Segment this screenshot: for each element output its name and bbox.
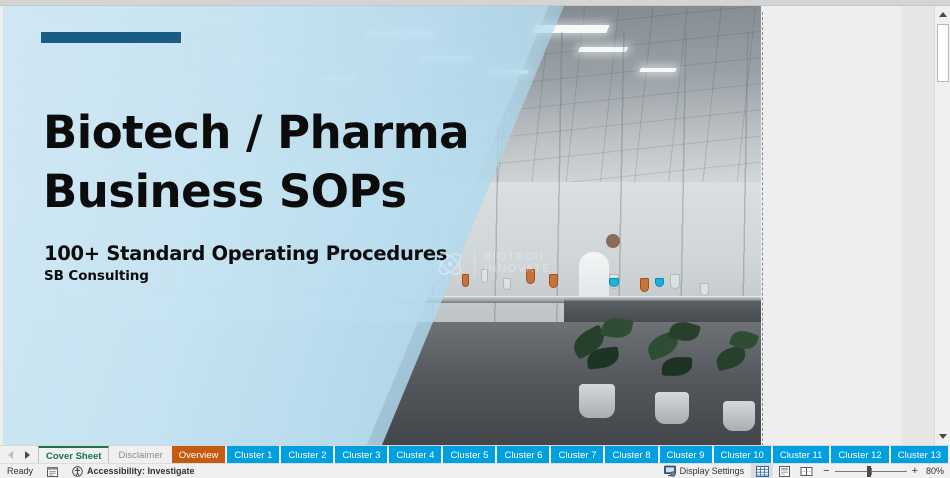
page-break-icon <box>800 465 813 478</box>
page-layout-icon <box>778 465 791 478</box>
accessibility-status[interactable]: Accessibility: Investigate <box>65 464 202 478</box>
sheet-tab-cluster-2[interactable]: Cluster 2 <box>281 446 333 464</box>
page-break-preview-button[interactable] <box>795 464 817 478</box>
worksheet-canvas[interactable]: Biotech / Pharma Business SOPs 100+ Stan… <box>0 6 902 445</box>
status-mode-label: Ready <box>7 466 33 476</box>
sheet-tab-cluster-5[interactable]: Cluster 5 <box>443 446 495 464</box>
scroll-up-button[interactable] <box>935 6 950 23</box>
zoom-level-label[interactable]: 80% <box>924 466 950 476</box>
zoom-slider-thumb[interactable] <box>867 466 871 477</box>
sheet-tab-cluster-1[interactable]: Cluster 1 <box>227 446 279 464</box>
zoom-slider-track[interactable] <box>835 471 907 472</box>
status-bar: Ready Accessibility: Investigate <box>0 463 950 478</box>
display-settings-button[interactable]: Display Settings <box>657 464 752 478</box>
sheet-tab-cluster-13[interactable]: Cluster 13 <box>891 446 948 464</box>
watermark-divider <box>474 251 475 277</box>
page-organization: SB Consulting <box>44 268 149 284</box>
chevron-right-icon <box>25 451 30 459</box>
accessibility-icon <box>72 466 83 477</box>
grid-icon <box>756 465 769 478</box>
title-accent-bar <box>41 32 181 43</box>
sheet-tab-cluster-10[interactable]: Cluster 10 <box>714 446 771 464</box>
watermark-logo: BIOTECH INNOVATE <box>435 249 551 279</box>
sheet-tab-cover-sheet[interactable]: Cover Sheet <box>38 446 109 464</box>
zoom-in-button[interactable]: + <box>912 466 918 477</box>
display-settings-label: Display Settings <box>680 466 745 476</box>
page-subtitle: 100+ Standard Operating Procedures <box>44 242 447 265</box>
page-break-guide <box>762 12 763 445</box>
sheet-tab-cluster-3[interactable]: Cluster 3 <box>335 446 387 464</box>
sheet-tab-cluster-4[interactable]: Cluster 4 <box>389 446 441 464</box>
vertical-scroll-thumb[interactable] <box>937 24 949 82</box>
atom-icon <box>435 249 465 279</box>
chevron-up-icon <box>939 12 947 17</box>
sheet-tab-overview[interactable]: Overview <box>172 446 226 464</box>
sheet-nav-buttons[interactable] <box>0 446 38 463</box>
watermark-line-2: INNOVATE <box>484 264 551 276</box>
sheet-tab-bar[interactable]: Cover SheetDisclaimerOverviewCluster 1Cl… <box>0 445 950 463</box>
record-macro-icon <box>47 466 58 477</box>
normal-view-button[interactable] <box>751 464 773 478</box>
zoom-out-button[interactable]: − <box>823 466 829 477</box>
chevron-left-icon <box>8 451 13 459</box>
sheet-tab-cluster-11[interactable]: Cluster 11 <box>773 446 830 464</box>
vertical-scrollbar[interactable] <box>934 6 950 445</box>
sheet-tab-cluster-7[interactable]: Cluster 7 <box>551 446 603 464</box>
previous-sheet-button[interactable] <box>2 446 19 464</box>
page-title: Biotech / Pharma Business SOPs <box>43 103 513 222</box>
sheet-tabs[interactable]: Cover SheetDisclaimerOverviewCluster 1Cl… <box>38 446 950 463</box>
sheet-tab-cluster-9[interactable]: Cluster 9 <box>660 446 712 464</box>
scroll-down-button[interactable] <box>935 428 950 445</box>
zoom-slider[interactable]: − + <box>817 466 924 477</box>
chevron-down-icon <box>939 434 947 439</box>
sheet-tab-disclaimer[interactable]: Disclaimer <box>111 446 169 464</box>
cover-slide-image[interactable]: Biotech / Pharma Business SOPs 100+ Stan… <box>3 6 761 445</box>
next-sheet-button[interactable] <box>19 446 36 464</box>
accessibility-label: Accessibility: Investigate <box>87 466 195 476</box>
page-title-line-2: Business SOPs <box>43 162 513 221</box>
record-macro-button[interactable] <box>40 464 65 478</box>
display-settings-icon <box>664 465 676 477</box>
page-title-line-1: Biotech / Pharma <box>43 103 513 162</box>
sheet-tab-cluster-12[interactable]: Cluster 12 <box>831 446 888 464</box>
sheet-tab-cluster-8[interactable]: Cluster 8 <box>605 446 657 464</box>
page-layout-view-button[interactable] <box>773 464 795 478</box>
sheet-tab-cluster-6[interactable]: Cluster 6 <box>497 446 549 464</box>
excel-window: Biotech / Pharma Business SOPs 100+ Stan… <box>0 0 950 478</box>
status-mode: Ready <box>0 464 40 478</box>
